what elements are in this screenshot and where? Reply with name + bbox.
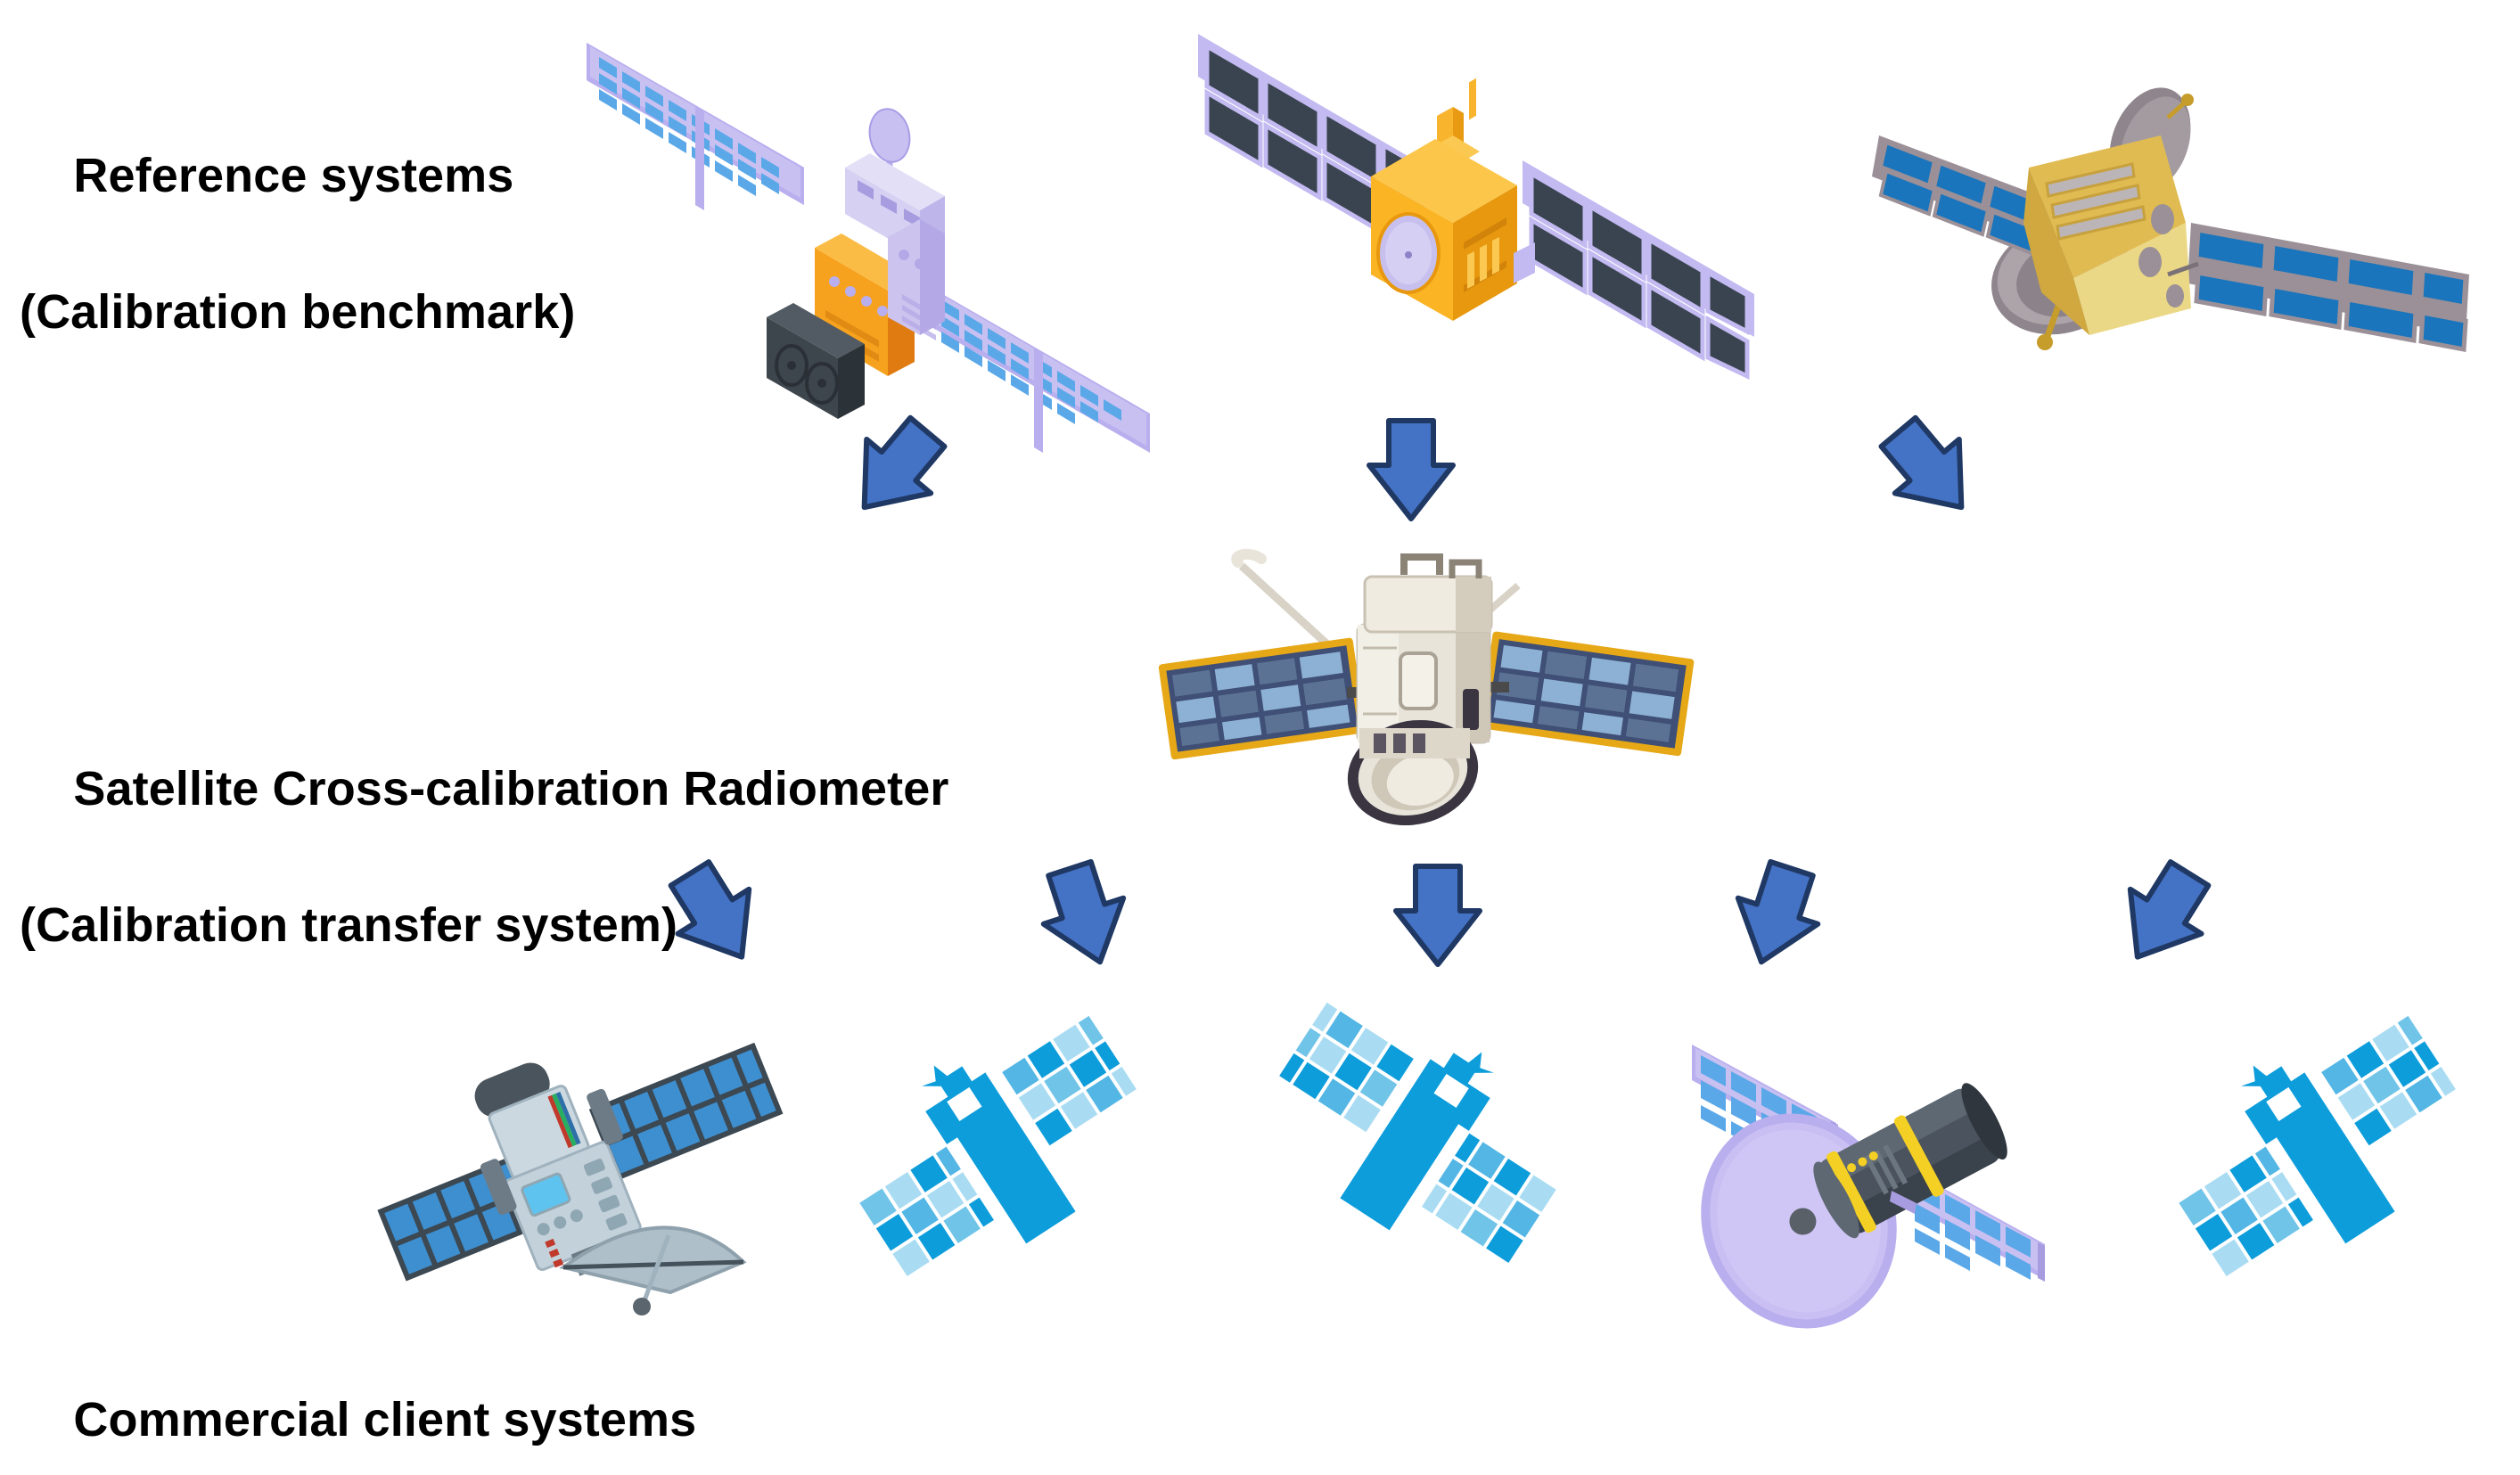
arrow-radiometer-to-client3	[1362, 857, 1514, 973]
client-satellite-1	[374, 1025, 784, 1319]
label-reference-systems: Reference systems (Calibration benchmark…	[20, 73, 575, 483]
label-transfer-line1: Satellite Cross-calibration Radiometer	[73, 762, 948, 815]
client-satellite-5	[2175, 1025, 2487, 1283]
client-satellite-2	[856, 1025, 1168, 1283]
cross-calibration-radiometer	[1145, 539, 1707, 829]
arrow-radiometer-to-client2	[1009, 857, 1161, 973]
arrow-ref3-to-radiometer	[1854, 412, 2006, 528]
arrow-ref1-to-radiometer	[820, 412, 972, 528]
arrow-radiometer-to-client4	[1701, 857, 1852, 973]
label-client-line1: Commercial client systems	[73, 1393, 696, 1446]
label-reference-line2: (Calibration benchmark)	[20, 278, 575, 347]
label-transfer-line2: (Calibration transfer system)	[20, 891, 949, 960]
diagram-canvas: Reference systems (Calibration benchmark…	[0, 0, 2520, 1475]
reference-satellite-1	[570, 27, 1177, 419]
client-satellite-3	[1248, 1007, 1560, 1274]
label-client-systems: Commercial client systems (Calibration i…	[20, 1317, 768, 1475]
arrow-radiometer-to-client5	[2088, 857, 2239, 973]
arrow-ref2-to-radiometer	[1335, 412, 1487, 528]
arrow-radiometer-to-client1	[640, 857, 792, 973]
label-reference-line1: Reference systems	[73, 149, 513, 202]
reference-satellite-3	[1854, 71, 2478, 419]
reference-satellite-2	[1186, 18, 1765, 401]
client-satellite-4	[1649, 1025, 2068, 1328]
